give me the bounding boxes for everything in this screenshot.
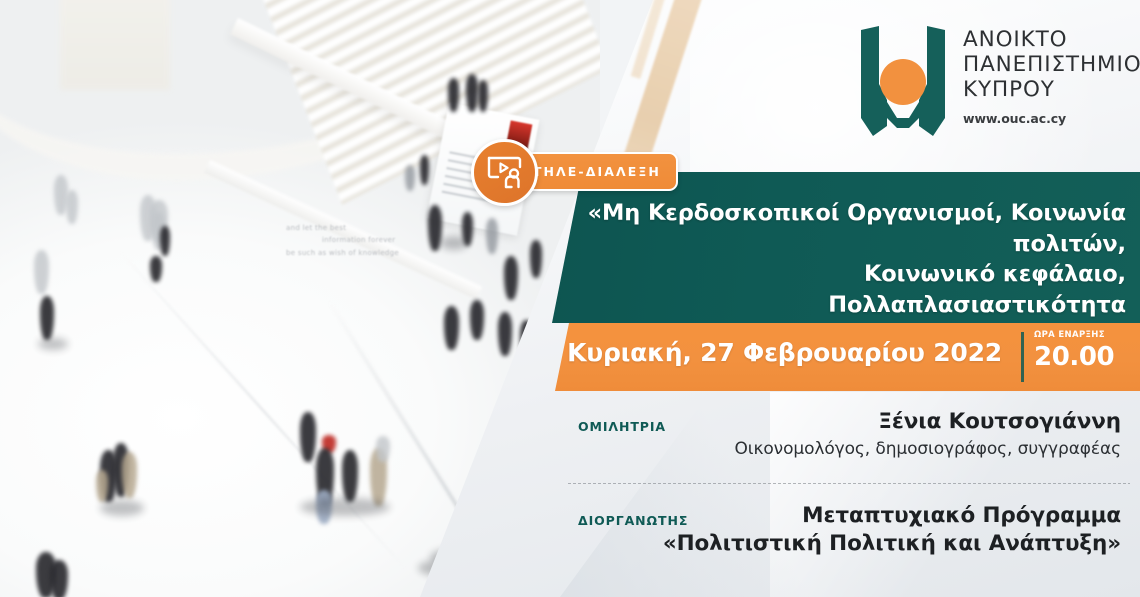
photo-person-shadow [38,338,68,350]
wall-inscription-line-3: be such as wish of knowledge [286,247,436,259]
organiser-programme: «Πολιτιστική Πολιτική και Ανάπτυξη» [560,530,1121,558]
divider-wrap [560,474,1130,494]
photo-person-shadow [300,498,390,516]
photo-person [96,470,108,502]
photo-person [342,450,358,502]
lecture-title-line-2: Κοινωνικό κεφάλαιο, Πολλαπλασιαστικότητα [560,259,1126,320]
organiser-label: ΔΙΟΡΓΑΝΩΤΗΣ [578,513,688,528]
photo-person [486,218,498,254]
wall-inscription-line-2: information forever [286,234,436,246]
photo-person [530,240,542,278]
photo-person [405,165,415,191]
photo-person [34,250,49,294]
photo-person [462,212,473,246]
event-date: Κυριακή, 27 Φεβρουαρίου 2022 [560,338,1002,367]
wall-inscription-line-1: and let the best [286,222,436,234]
photo-person [40,296,54,340]
photo-wall-inscription: and let the best information forever be … [286,222,436,259]
photo-person [150,256,162,282]
photo-person [466,74,478,112]
photo-person-shadow [100,500,144,516]
logo-line-2: ΠΑΝΕΠΙΣΤΗΜΙΟ [963,53,1140,78]
ouc-logo[interactable]: ΑΝΟΙΚΤΟ ΠΑΝΕΠΙΣΤΗΜΙΟ ΚΥΠΡΟΥ www.ouc.ac.c… [857,22,1127,144]
date-time-divider [1021,332,1024,382]
photo-person [50,560,68,597]
event-announcement-banner: and let the best information forever be … [0,0,1140,597]
logo-line-3: ΚΥΠΡΟΥ [963,78,1140,103]
details-section: ΟΜΙΛΗΤΡΙΑ Ξένια Κουτσογιάννη Οικονομολόγ… [560,400,1130,568]
photo-person [444,306,459,350]
speaker-row: ΟΜΙΛΗΤΡΙΑ Ξένια Κουτσογιάννη Οικονομολόγ… [560,400,1130,474]
event-time-value: 20.00 [1034,344,1130,370]
photo-person [470,300,484,340]
photo-wall-panel [60,0,170,90]
lecture-type-badge-icon-circle [471,139,538,206]
photo-person [160,226,170,256]
logo-line-1: ΑΝΟΙΚΤΟ [963,28,1140,53]
photo-person [448,78,459,112]
photo-person [420,155,429,185]
logo-website-url[interactable]: www.ouc.ac.cy [963,111,1140,126]
photo-person [478,80,488,112]
event-time-label: ΩΡΑ ΕΝΑΡΞΗΣ [1034,331,1130,340]
ouc-hands-circle-logo-icon [857,22,949,140]
photo-person [376,436,390,462]
photo-person [300,412,316,462]
lecture-type-badge-label: ΤΗΛΕ-ΔΙΑΛΕΞΗ [533,164,661,179]
speaker-role: Οικονομολόγος, δημοσιογράφος, συγγραφέας [560,438,1121,461]
photo-person [122,452,137,498]
photo-person [66,190,78,224]
photo-person [504,256,518,300]
speaker-label: ΟΜΙΛΗΤΡΙΑ [578,419,666,434]
section-divider [568,483,1130,484]
ouc-logo-wordmark: ΑΝΟΙΚΤΟ ΠΑΝΕΠΙΣΤΗΜΙΟ ΚΥΠΡΟΥ www.ouc.ac.c… [963,22,1140,126]
lecture-title-line-1: «Μη Κερδοσκοπικοί Οργανισμοί, Κοινωνία π… [560,198,1126,259]
video-presentation-icon [485,153,525,193]
event-time-block: ΩΡΑ ΕΝΑΡΞΗΣ 20.00 [1034,331,1130,370]
organiser-row: ΔΙΟΡΓΑΝΩΤΗΣ Μεταπτυχιακό Πρόγραμμα «Πολι… [560,494,1130,568]
photo-person [498,312,512,356]
